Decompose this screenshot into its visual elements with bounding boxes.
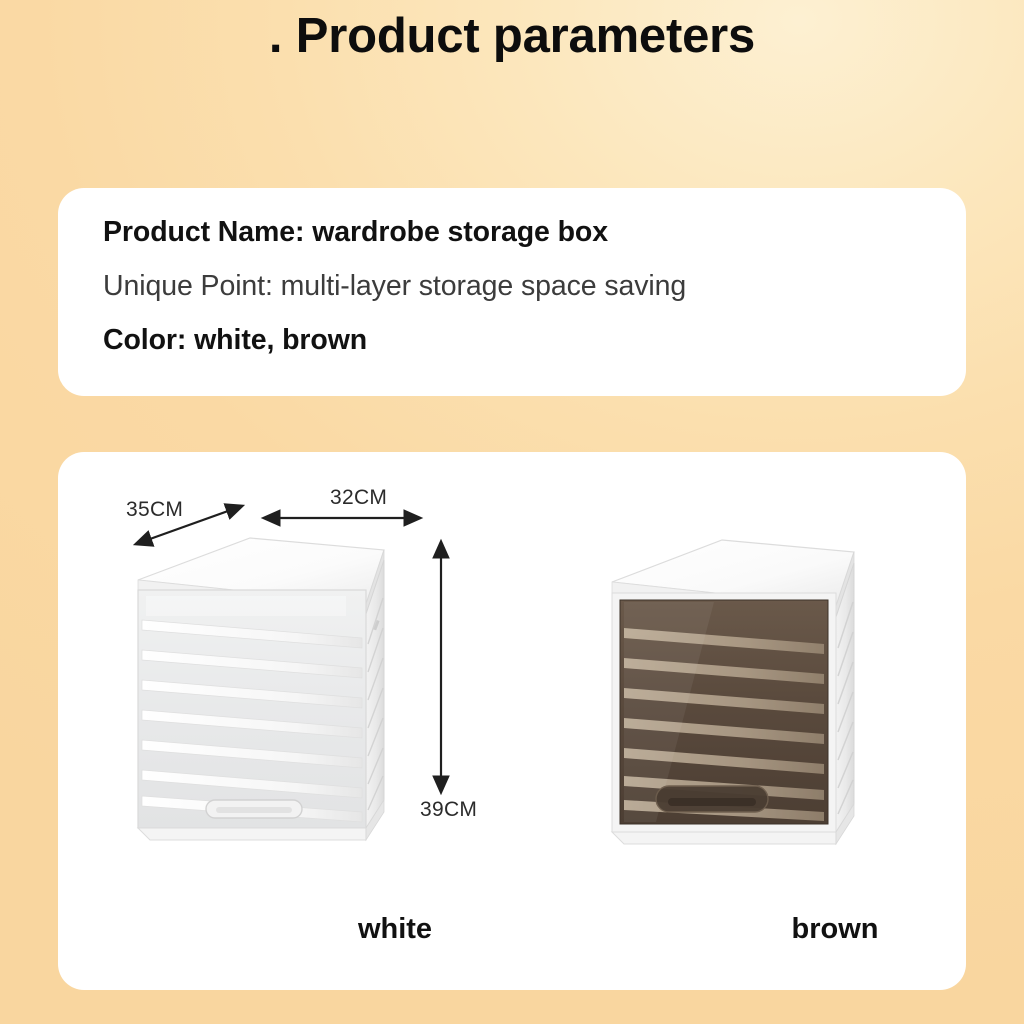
dimension-label-height: 39CM <box>420 798 477 822</box>
product-image-brown <box>604 532 904 850</box>
brown-box-illustration <box>604 532 904 850</box>
white-box-illustration <box>128 528 448 848</box>
spec-line-color: Color: white, brown <box>103 324 367 357</box>
color-label-brown: brown <box>740 913 930 946</box>
dimension-label-depth: 35CM <box>126 498 183 522</box>
drawer-handle-icon <box>206 800 302 818</box>
spec-card: Product Name: wardrobe storage box Uniqu… <box>58 188 966 396</box>
dimension-label-width: 32CM <box>330 486 387 510</box>
page-title: . Product parameters <box>0 8 1024 64</box>
product-image-white <box>128 528 448 848</box>
spec-line-product-name: Product Name: wardrobe storage box <box>103 216 608 249</box>
product-parameters-page: . Product parameters Product Name: wardr… <box>0 0 1024 1024</box>
drawer-handle-icon <box>656 786 768 812</box>
color-label-white: white <box>300 913 490 946</box>
spec-line-unique-point: Unique Point: multi-layer storage space … <box>103 270 686 303</box>
